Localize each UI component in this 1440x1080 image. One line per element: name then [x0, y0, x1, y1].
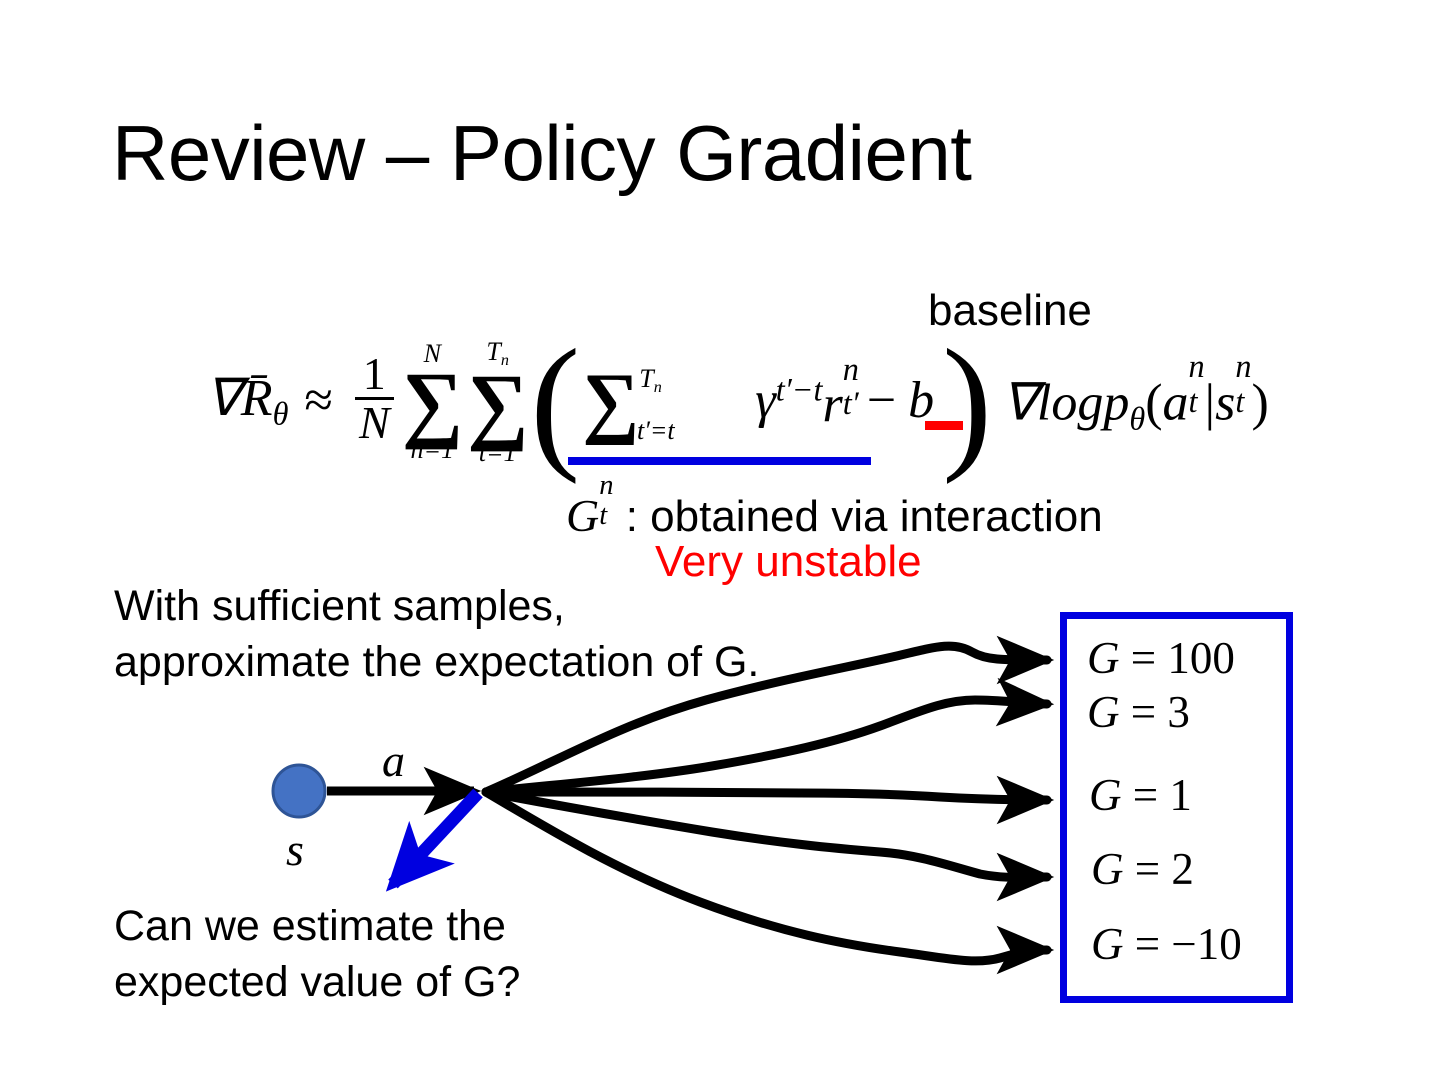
sum-over-n: N ∑ n=1 — [402, 340, 463, 463]
gamma-exponent: t′−t — [776, 371, 823, 407]
formula-lhs-symbol: ∇R̄ — [206, 370, 273, 427]
red-underline-baseline — [925, 421, 963, 430]
policy-close-paren: ) — [1251, 374, 1268, 431]
return-value-item: G = −10 — [1091, 918, 1242, 970]
return-value-item: G = 2 — [1091, 843, 1194, 895]
grad-log-policy: ∇logpθ(ant|snt) — [1002, 363, 1269, 437]
slide-canvas: Review – Policy Gradient ∇R̄θ ≈ 1 N N ∑ … — [0, 0, 1440, 1080]
trajectory-curve-3 — [486, 792, 1047, 800]
return-value-item: G = 100 — [1087, 632, 1235, 684]
sufficient-samples-line-2: approximate the expectation of G. — [114, 635, 759, 691]
estimate-question-line-2: expected value of G? — [114, 955, 520, 1011]
approx-sign: ≈ — [304, 371, 333, 430]
baseline-annotation-label: baseline — [928, 286, 1092, 336]
fraction-numerator: 1 — [355, 351, 394, 397]
sufficient-samples-text: With sufficient samples, approximate the… — [114, 579, 759, 691]
action-label: a — [382, 734, 405, 787]
one-over-n-fraction: 1 N — [355, 351, 394, 446]
sigma-glyph: ∑ — [402, 368, 463, 437]
sufficient-samples-line-1: With sufficient samples, — [114, 579, 759, 635]
policy-open-paren: ( — [1145, 374, 1162, 431]
return-value-item: G = 3 — [1087, 686, 1190, 738]
state-indices: nt — [1235, 365, 1251, 426]
alternative-action-arrow — [393, 793, 478, 884]
discount-term: γt′−t — [755, 371, 822, 430]
return-symbol: Gnt — [566, 490, 614, 541]
sigma-glyph: ∑ — [582, 358, 639, 446]
reward-symbol: r — [822, 377, 842, 434]
open-paren: ( — [530, 361, 580, 444]
return-values-box: G = 100 G = 3 G = 1 G = 2 G = −10 — [1060, 612, 1293, 1003]
estimate-question-text: Can we estimate the expected value of G? — [114, 899, 520, 1011]
gamma-symbol: γ — [755, 372, 776, 429]
close-paren: ) — [942, 361, 992, 444]
action-symbol: a — [1163, 374, 1189, 431]
return-value-item: G = 1 — [1089, 769, 1192, 821]
formula-lhs: ∇R̄θ — [206, 368, 288, 433]
return-indices: nt — [599, 484, 613, 538]
grad-logp-symbol: ∇logp — [1002, 374, 1129, 431]
estimate-question-line-1: Can we estimate the — [114, 899, 520, 955]
sum-over-t: Tn ∑ t=1 — [467, 338, 528, 466]
fraction-denominator: N — [355, 397, 394, 446]
reward-indices: nt′ — [843, 367, 859, 428]
sigma-glyph: ∑ — [467, 370, 528, 439]
return-caption-text: : obtained via interaction — [614, 492, 1103, 541]
return-caption: Gnt : obtained via interaction — [566, 482, 1103, 542]
state-label: s — [286, 823, 304, 876]
blue-underline-return — [568, 457, 871, 465]
state-node-circle — [273, 765, 325, 817]
sum-over-tprime-upper: Tn — [639, 364, 662, 397]
minus-sign: − — [867, 371, 896, 430]
trajectory-curve-5 — [486, 792, 1047, 961]
sum-over-tprime-lower: t′=t — [637, 416, 675, 446]
formula-lhs-subscript: θ — [273, 395, 289, 431]
policy-gradient-formula: ∇R̄θ ≈ 1 N N ∑ n=1 Tn ∑ t=1 ( ∑ Tn t′=t … — [206, 330, 1269, 470]
trajectory-curve-4 — [486, 792, 1047, 877]
sum-over-n-lower: n=1 — [402, 436, 463, 463]
trajectory-curve-2 — [486, 700, 1047, 792]
state-symbol: s — [1215, 374, 1235, 431]
action-indices: nt — [1189, 365, 1205, 426]
conditional-bar: | — [1205, 374, 1215, 431]
reward-term: rnt′ — [822, 365, 858, 435]
grad-logp-subscript: θ — [1129, 400, 1145, 436]
sum-over-tprime: ∑ Tn t′=t — [582, 370, 639, 434]
page-title: Review – Policy Gradient — [112, 108, 971, 199]
